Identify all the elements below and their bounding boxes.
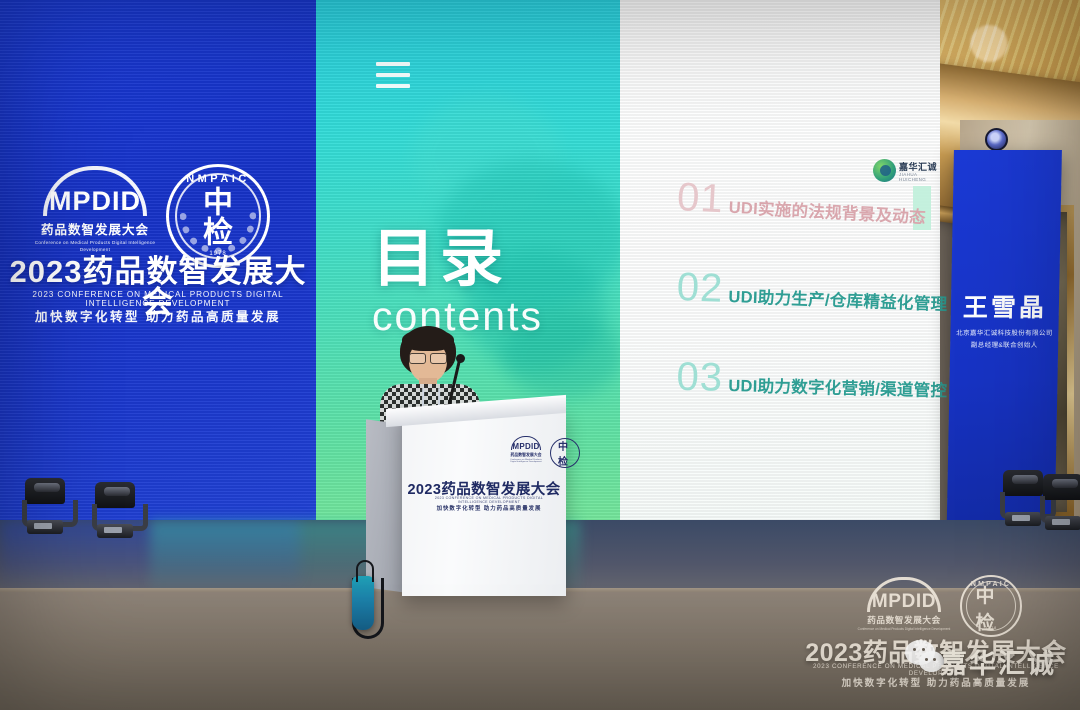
podium-subline-cn: 加快数字化转型 助力药品高质量发展 xyxy=(422,504,556,512)
conference-subline-cn: 加快数字化转型 助力药品高质量发展 xyxy=(0,306,316,325)
podium-subline-en: 2023 CONFERENCE ON MEDICAL PRODUCTS DIGI… xyxy=(422,496,556,504)
agenda-number: 03 xyxy=(676,357,723,398)
wechat-icon xyxy=(905,640,945,676)
agenda-item: 01 UDI实施的法规背景及动态 xyxy=(674,173,948,275)
mpdid-arc-icon xyxy=(43,166,147,216)
speaker-org-line1: 北京嘉华汇诚科技股份有限公司 xyxy=(954,328,1054,340)
sponsor-mark-icon xyxy=(873,159,896,182)
agenda-number: 02 xyxy=(676,267,724,309)
conference-photo: MPDID 药品数智发展大会 Conference on Medical Pro… xyxy=(0,0,1080,710)
watermark-mpdid-en: Conference on Medical Products Digital I… xyxy=(856,627,952,632)
agenda-text: UDI助力生产/仓库精益化管理 xyxy=(728,283,948,315)
branding-logos: MPDID 药品数智发展大会 Conference on Medical Pro… xyxy=(0,160,316,252)
cable-strap xyxy=(356,560,374,582)
podium-mpdid-en: Conference on Medical Products Digital I… xyxy=(508,459,544,463)
agenda-list: 01 UDI实施的法规背景及动态 02 UDI助力生产/仓库精益化管理 03 U… xyxy=(676,180,946,444)
hamburger-icon xyxy=(376,62,410,88)
watermark-nmpaic-logo: NMPAIC 中检 1978 xyxy=(960,575,1022,637)
wechat-account-name: 嘉华汇诚 xyxy=(940,642,1056,681)
agenda-text: UDI实施的法规背景及动态 xyxy=(728,194,926,228)
speaker-org-line2: 副总经理&联合创始人 xyxy=(954,340,1054,352)
mpdid-cn: 药品数智发展大会 xyxy=(34,219,156,238)
watermark-mpdid-cn: 药品数智发展大会 xyxy=(856,614,952,626)
glasses-icon xyxy=(409,353,447,362)
nmpaic-center-mark: 中检 xyxy=(192,188,244,248)
speaker-name: 王雪晶 xyxy=(951,288,1060,324)
watermark-mpdid-mark: MPDID xyxy=(856,591,952,613)
mpdid-en: Conference on Medical Products Digital I… xyxy=(34,240,156,254)
agenda-item: 02 UDI助力生产/仓库精益化管理 xyxy=(674,263,947,361)
podium-mpdid-mark: MPDID xyxy=(508,442,544,451)
podium-mpdid-cn: 药品数智发展大会 xyxy=(508,452,544,458)
speaker-org: 北京嘉华汇诚科技股份有限公司 副总经理&联合创始人 xyxy=(954,328,1054,351)
moving-head-light-icon xyxy=(1040,474,1080,530)
podium-logos: MPDID 药品数智发展大会 Conference on Medical Pro… xyxy=(508,436,578,470)
microphone-head-icon xyxy=(456,354,465,363)
agenda-text: UDI助力数字化营销/渠道管控 xyxy=(728,372,948,401)
nmpaic-ring-text: NMPAIC xyxy=(166,173,270,185)
speaker-fringe xyxy=(402,329,454,351)
agenda-number: 01 xyxy=(676,177,725,219)
nmpaic-logo: NMPAIC 中检 1978 xyxy=(166,164,270,268)
contents-heading-cn: 目录 xyxy=(372,228,508,291)
moving-head-light-icon xyxy=(92,482,138,538)
podium-front: MPDID 药品数智发展大会 Conference on Medical Pro… xyxy=(402,410,566,596)
podium-nmpaic-logo: 中检 xyxy=(550,438,580,468)
podium-mpdid-logo: MPDID 药品数智发展大会 Conference on Medical Pro… xyxy=(508,436,544,463)
cable-bag xyxy=(352,576,374,630)
moving-head-light-icon xyxy=(22,478,68,534)
watermark-badge-year: 1978 xyxy=(960,625,1022,630)
podium: MPDID 药品数智发展大会 Conference on Medical Pro… xyxy=(366,400,566,600)
agenda-item: 03 UDI助力数字化营销/渠道管控 xyxy=(675,353,947,448)
podium-badge-center: 中检 xyxy=(558,438,572,468)
mpdid-logo: MPDID 药品数智发展大会 Conference on Medical Pro… xyxy=(34,166,156,254)
watermark-mpdid-logo: MPDID 药品数智发展大会 Conference on Medical Pro… xyxy=(856,577,952,632)
conference-branding: MPDID 药品数智发展大会 Conference on Medical Pro… xyxy=(0,160,316,360)
watermark-logos: MPDID 药品数智发展大会 Conference on Medical Pro… xyxy=(800,575,1072,631)
